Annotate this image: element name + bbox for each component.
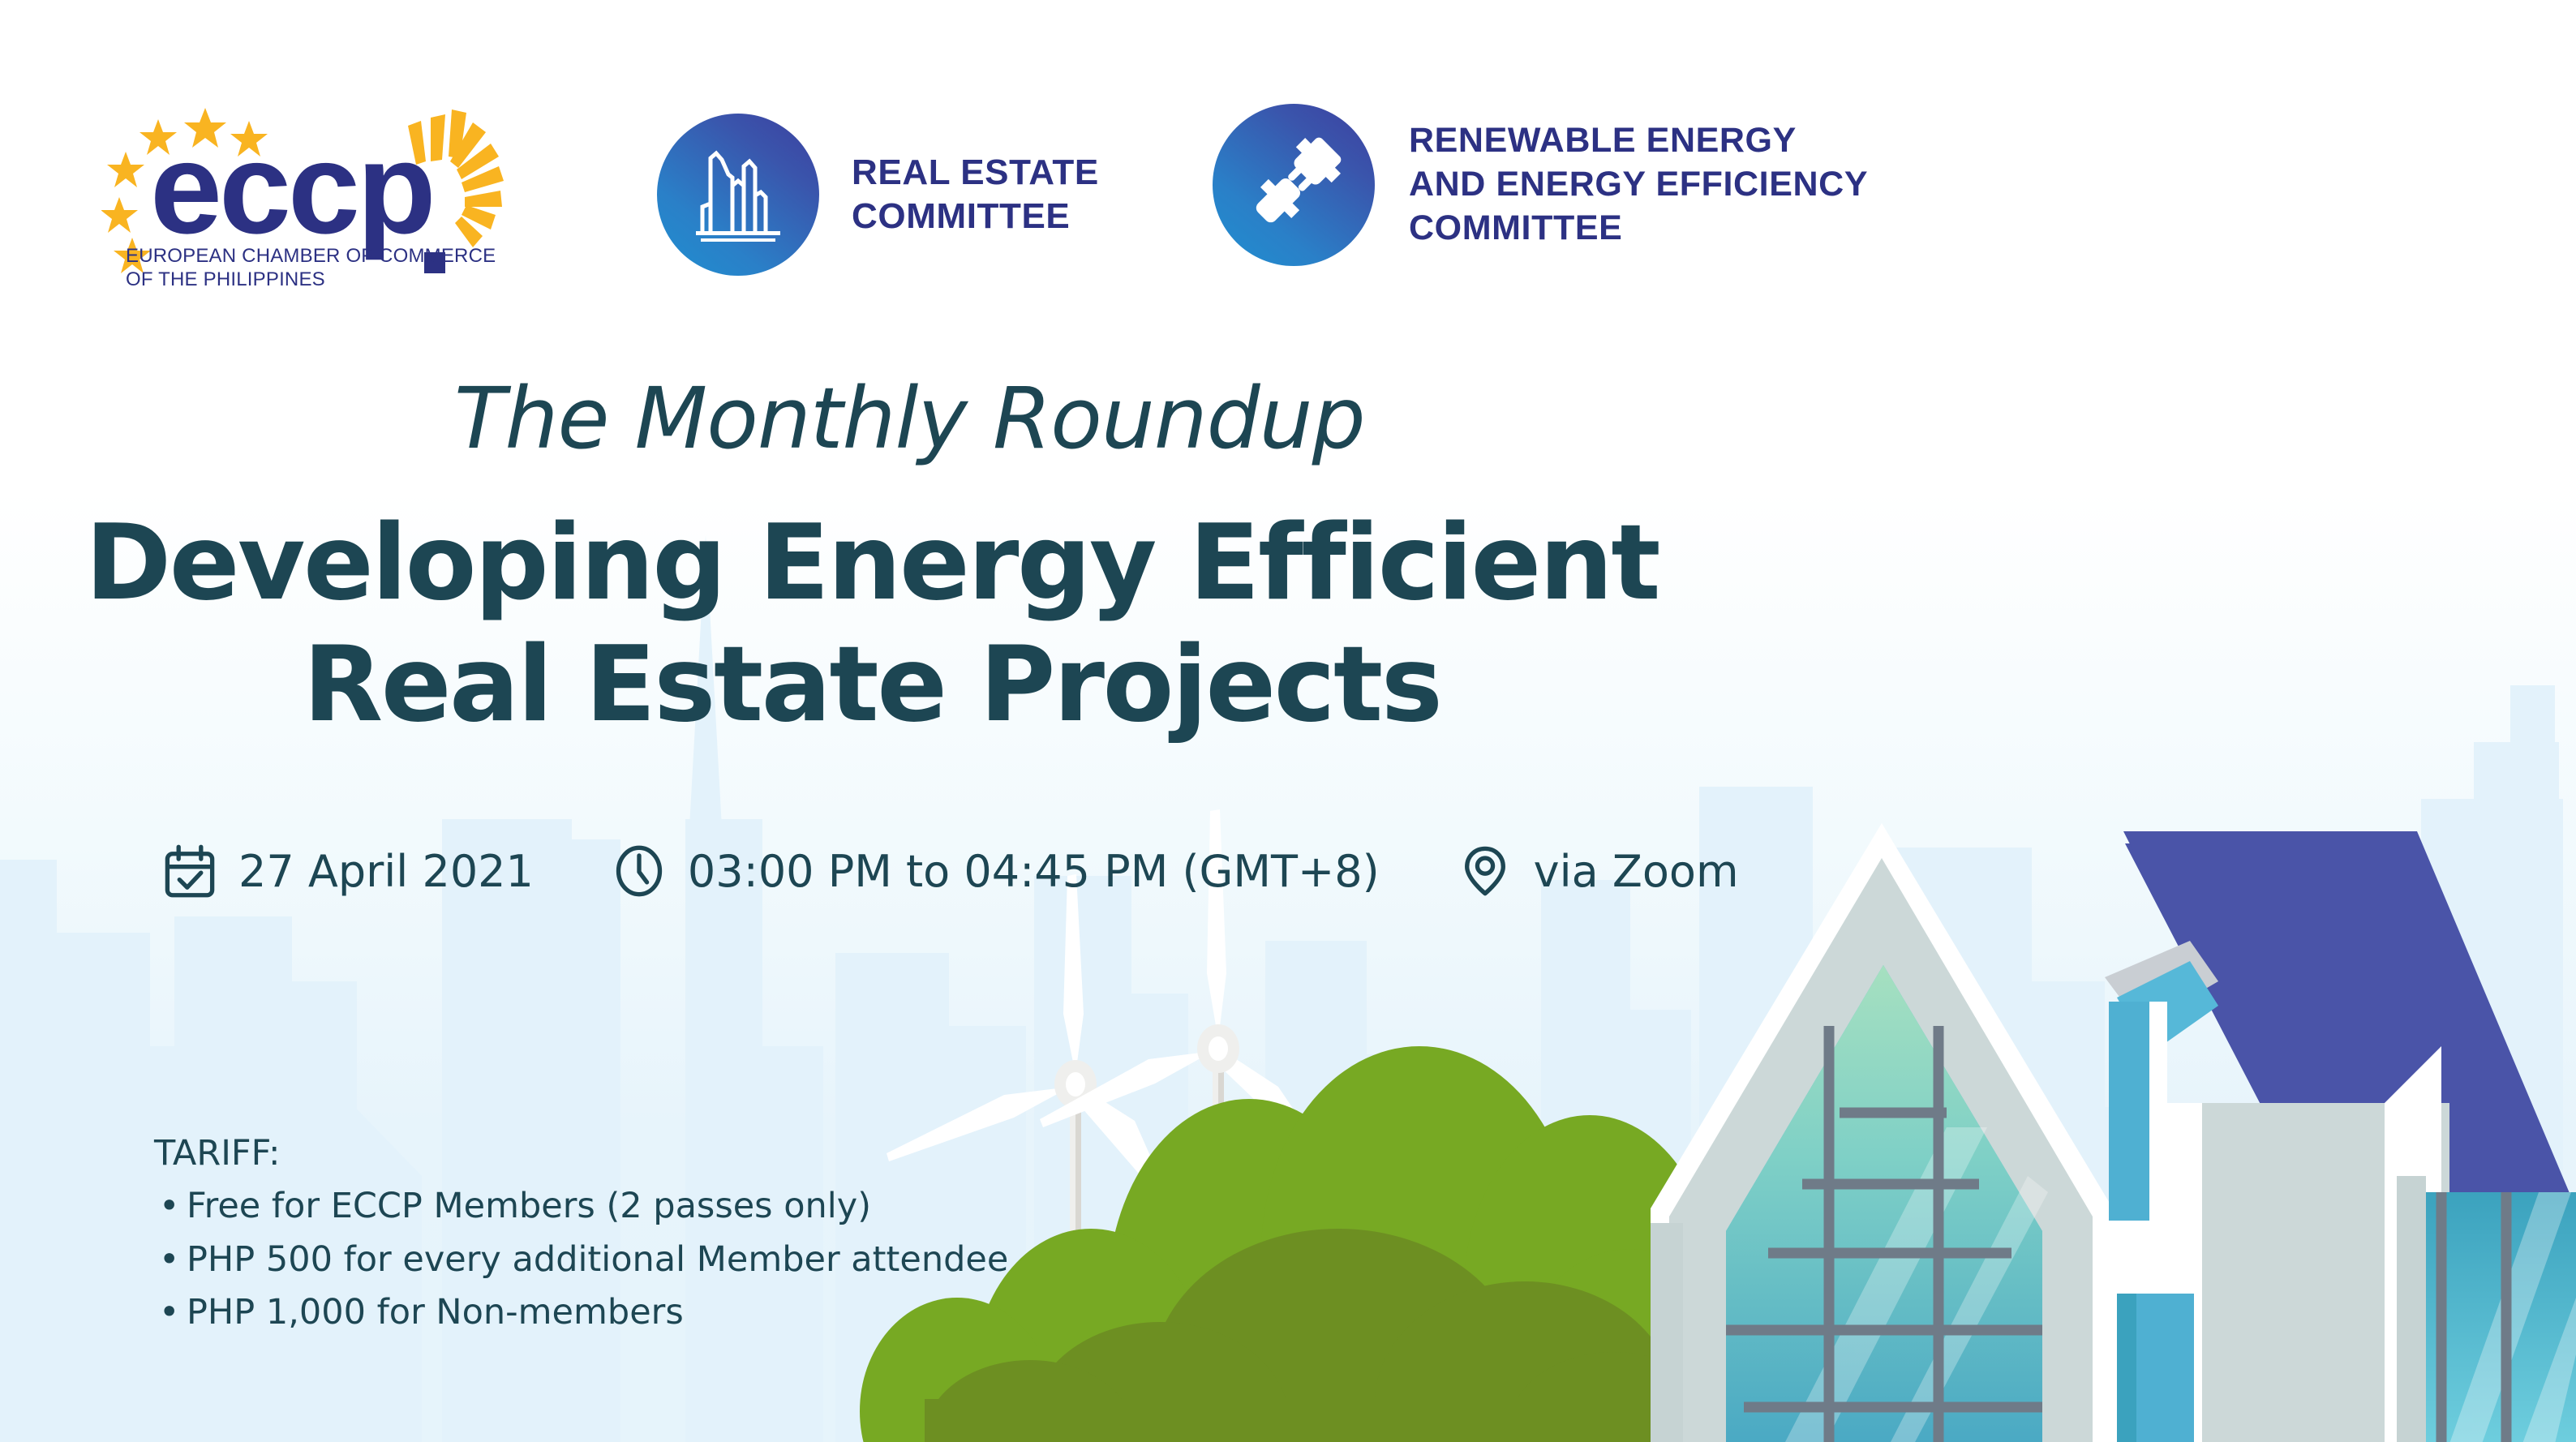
committee-real-estate: REAL ESTATE COMMITTEE [657, 114, 1099, 276]
tariff-list: Free for ECCP Members (2 passes only) PH… [154, 1180, 1008, 1339]
event-detail-location: via Zoom [1458, 843, 1739, 899]
event-title: Developing Energy Efficient Real Estate … [0, 503, 1744, 746]
logo-header: eccp EUROPEAN CHAMBER OF COMMERCE OF THE… [0, 0, 2576, 324]
location-pin-icon [1458, 843, 1513, 899]
eccp-logo: eccp EUROPEAN CHAMBER OF COMMERCE OF THE… [101, 101, 539, 288]
event-title-line1: Developing Energy Efficient [85, 503, 1659, 624]
tariff-heading: TARIFF: [154, 1127, 1008, 1180]
committee-renewable-energy: RENEWABLE ENERGY AND ENERGY EFFICIENCY C… [1213, 104, 1868, 266]
eco-house [1651, 823, 2576, 1442]
tariff-item: PHP 500 for every additional Member atte… [154, 1234, 1008, 1286]
event-banner: eccp EUROPEAN CHAMBER OF COMMERCE OF THE… [0, 0, 2576, 1442]
plug-icon [1241, 132, 1346, 238]
tariff-item: Free for ECCP Members (2 passes only) [154, 1180, 1008, 1233]
eccp-name-line2: OF THE PHILIPPINES [126, 268, 325, 290]
event-date-value: 27 April 2021 [238, 846, 534, 897]
event-kicker: The Monthly Roundup [454, 369, 1365, 468]
event-detail-time: 03:00 PM to 04:45 PM (GMT+8) [612, 843, 1380, 899]
calendar-check-icon [162, 843, 217, 899]
event-location-value: via Zoom [1534, 846, 1739, 897]
event-time-value: 03:00 PM to 04:45 PM (GMT+8) [688, 846, 1380, 897]
clock-icon [612, 843, 667, 899]
svg-text:eccp: eccp [150, 115, 433, 260]
renewable-energy-badge [1213, 104, 1375, 266]
eccp-name-line1: EUROPEAN CHAMBER OF COMMERCE [126, 245, 496, 267]
event-title-line2: Real Estate Projects [0, 624, 1744, 746]
event-detail-date: 27 April 2021 [162, 843, 534, 899]
eccp-full-name: EUROPEAN CHAMBER OF COMMERCE OF THE PHIL… [126, 244, 496, 292]
real-estate-label: REAL ESTATE COMMITTEE [852, 151, 1099, 238]
tariff-item: PHP 1,000 for Non-members [154, 1286, 1008, 1339]
tariff-block: TARIFF: Free for ECCP Members (2 passes … [154, 1127, 1008, 1339]
skyscraper-icon [689, 142, 787, 247]
real-estate-badge [657, 114, 819, 276]
renewable-energy-label: RENEWABLE ENERGY AND ENERGY EFFICIENCY C… [1409, 119, 1868, 250]
event-details: 27 April 2021 03:00 PM to 04:45 PM (GMT+… [162, 843, 1739, 899]
